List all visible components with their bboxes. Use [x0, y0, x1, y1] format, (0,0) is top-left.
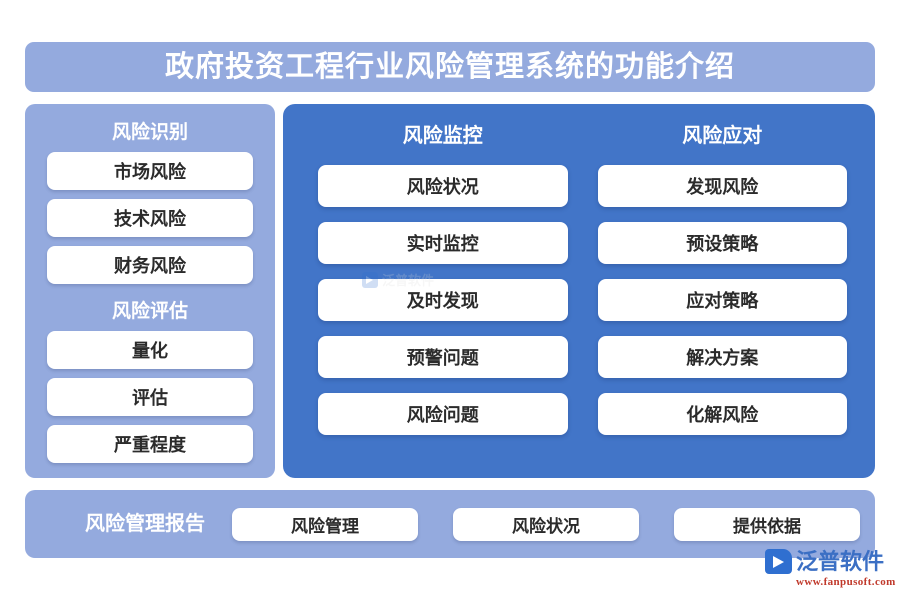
list-item[interactable]: 提供依据: [674, 508, 860, 541]
brand-logo-row: 泛普软件: [765, 549, 884, 574]
list-item[interactable]: 风险管理: [232, 508, 418, 541]
list-item[interactable]: 风险问题: [318, 393, 568, 435]
list-item[interactable]: 财务风险: [47, 246, 253, 284]
list-item[interactable]: 发现风险: [598, 165, 848, 207]
bottom-bar-label: 风险管理报告: [85, 514, 205, 534]
list-item[interactable]: 市场风险: [47, 152, 253, 190]
left-panel: 风险识别 市场风险 技术风险 财务风险 风险评估 量化 评估 严重程度: [25, 104, 275, 478]
list-item[interactable]: 风险状况: [453, 508, 639, 541]
page-title-bar: 政府投资工程行业风险管理系统的功能介绍: [25, 42, 875, 92]
list-item[interactable]: 预设策略: [598, 222, 848, 264]
list-item[interactable]: 预警问题: [318, 336, 568, 378]
column-heading-risk-response: 风险应对: [598, 126, 848, 165]
bottom-bar-items: 风险管理 风险状况 提供依据: [232, 508, 860, 541]
brand-name: 泛普软件: [796, 551, 884, 573]
column-heading-risk-monitoring: 风险监控: [318, 126, 568, 165]
page-title: 政府投资工程行业风险管理系统的功能介绍: [165, 53, 735, 82]
list-item[interactable]: 实时监控: [318, 222, 568, 264]
brand-url: www.fanpusoft.com: [796, 577, 896, 588]
brand-logo: 泛普软件 www.fanpusoft.com: [765, 549, 896, 588]
list-item[interactable]: 严重程度: [47, 425, 253, 463]
center-panel: 风险监控 风险状况 实时监控 及时发现 预警问题 风险问题 风险应对 发现风险 …: [283, 104, 875, 478]
list-item[interactable]: 评估: [47, 378, 253, 416]
group-heading-risk-identification: 风险识别: [47, 114, 253, 152]
list-item[interactable]: 化解风险: [598, 393, 848, 435]
column-risk-response: 风险应对 发现风险 预设策略 应对策略 解决方案 化解风险: [598, 126, 848, 458]
list-item[interactable]: 风险状况: [318, 165, 568, 207]
bottom-bar: 风险管理报告 风险管理 风险状况 提供依据: [25, 490, 875, 558]
list-item[interactable]: 及时发现: [318, 279, 568, 321]
list-item[interactable]: 应对策略: [598, 279, 848, 321]
group-heading-risk-assessment: 风险评估: [47, 293, 253, 331]
column-risk-monitoring: 风险监控 风险状况 实时监控 及时发现 预警问题 风险问题: [318, 126, 568, 458]
brand-logo-icon: [765, 549, 792, 574]
list-item[interactable]: 解决方案: [598, 336, 848, 378]
infographic-canvas: 政府投资工程行业风险管理系统的功能介绍 风险识别 市场风险 技术风险 财务风险 …: [0, 0, 900, 600]
list-item[interactable]: 技术风险: [47, 199, 253, 237]
list-item[interactable]: 量化: [47, 331, 253, 369]
